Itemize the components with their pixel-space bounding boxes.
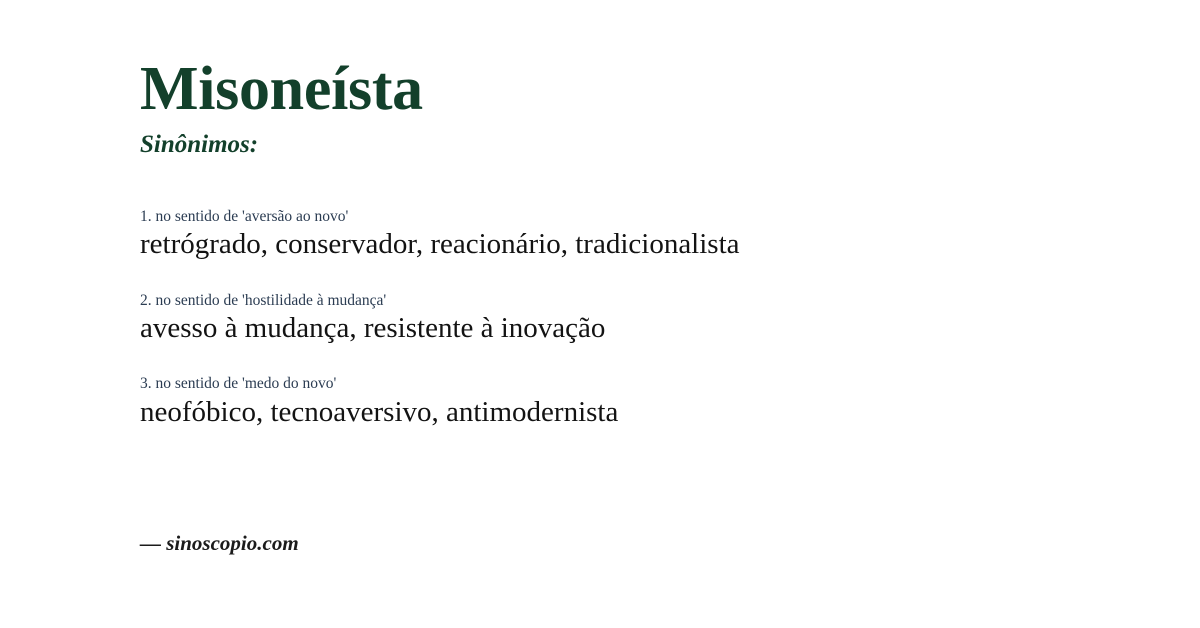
sense-synonyms-3: neofóbico, tecnoaversivo, antimodernista: [140, 396, 1150, 429]
sense-label-1: 1. no sentido de 'aversão ao novo': [140, 207, 1150, 226]
sense-label-2: 2. no sentido de 'hostilidade à mudança': [140, 291, 1150, 310]
sense-synonyms-1: retrógrado, conservador, reacionário, tr…: [140, 228, 1150, 261]
sense-block-1: 1. no sentido de 'aversão ao novo' retró…: [140, 207, 1150, 262]
source-attribution: — sinoscopio.com: [140, 533, 740, 554]
sense-block-3: 3. no sentido de 'medo do novo' neofóbic…: [140, 374, 1150, 429]
page-title: Misoneísta: [140, 58, 1140, 120]
synonym-card: Misoneísta Sinônimos: 1. no sentido de '…: [0, 0, 1200, 628]
sense-block-2: 2. no sentido de 'hostilidade à mudança'…: [140, 291, 1150, 346]
sense-list: 1. no sentido de 'aversão ao novo' retró…: [140, 207, 1150, 429]
card-header: Misoneísta Sinônimos:: [140, 58, 1140, 157]
synonyms-heading: Sinônimos:: [140, 132, 1140, 157]
card-footer: — sinoscopio.com: [140, 533, 740, 554]
sense-synonyms-2: avesso à mudança, resistente à inovação: [140, 312, 1150, 345]
sense-label-3: 3. no sentido de 'medo do novo': [140, 374, 1150, 393]
